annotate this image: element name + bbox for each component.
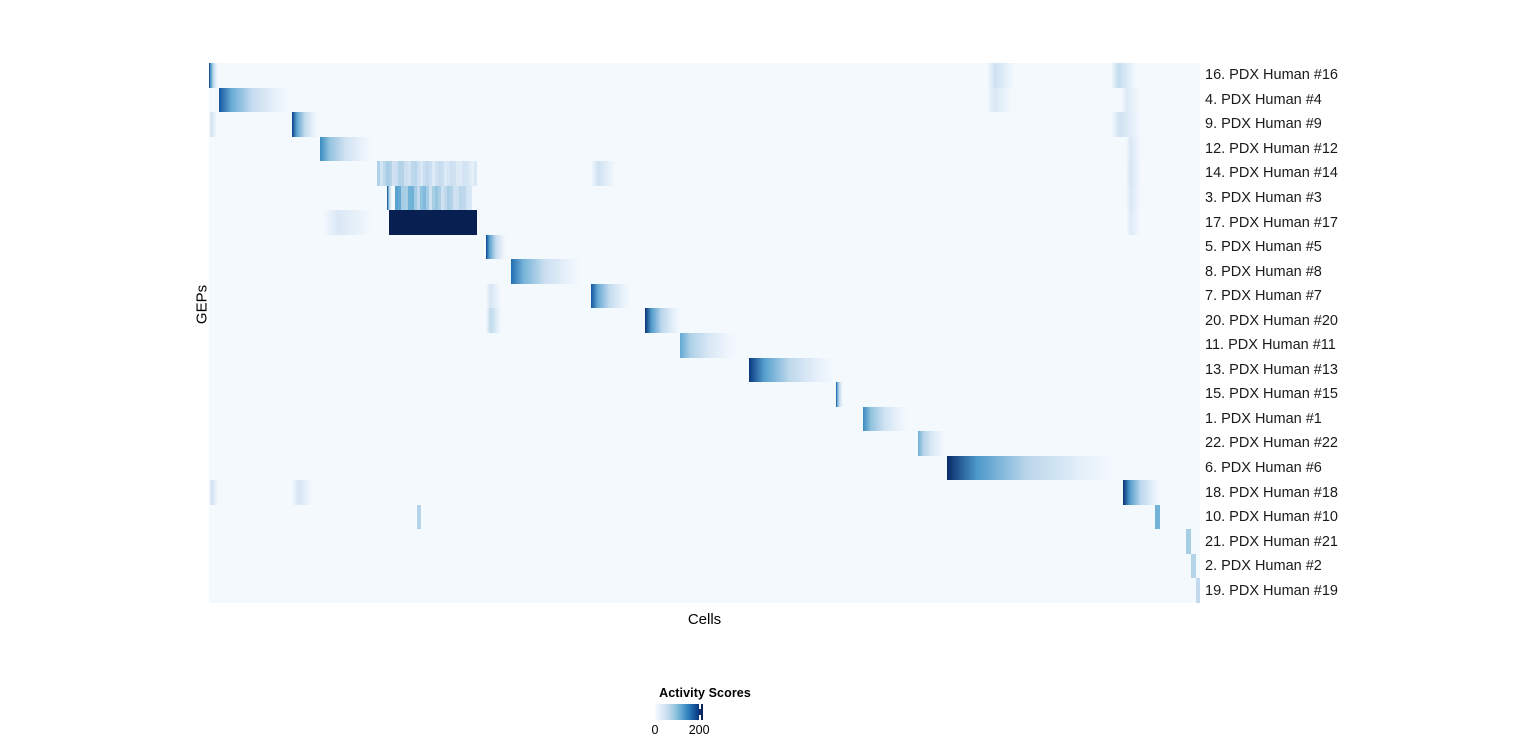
heatmap-cell xyxy=(209,63,218,88)
heatmap-row xyxy=(209,161,1200,186)
heatmap-row xyxy=(209,358,1200,383)
row-label-list: 16. PDX Human #164. PDX Human #49. PDX H… xyxy=(1205,63,1525,603)
row-label: 2. PDX Human #2 xyxy=(1205,559,1322,574)
heatmap-cell xyxy=(591,284,631,309)
heatmap-cell xyxy=(836,382,843,407)
heatmap-row xyxy=(209,137,1200,162)
row-label: 9. PDX Human #9 xyxy=(1205,117,1322,132)
x-axis-label: Cells xyxy=(209,611,1200,628)
heatmap-cell xyxy=(1126,137,1141,162)
heatmap-cell xyxy=(1126,161,1141,186)
row-label: 11. PDX Human #11 xyxy=(1205,338,1336,353)
colorbar-tick-label: 0 xyxy=(652,723,659,737)
heatmap-cell xyxy=(1123,480,1161,505)
heatmap-cell xyxy=(292,112,318,137)
heatmap-row xyxy=(209,529,1200,554)
heatmap-cell xyxy=(219,88,288,113)
heatmap-row xyxy=(209,456,1200,481)
row-label: 1. PDX Human #1 xyxy=(1205,412,1322,427)
row-label: 22. PDX Human #22 xyxy=(1205,436,1338,451)
heatmap-cell xyxy=(486,308,501,333)
heatmap-cell xyxy=(1126,210,1141,235)
colorbar-legend: Activity Scores 0200 xyxy=(600,686,810,742)
colorbar-gradient xyxy=(655,704,703,720)
heatmap-cell xyxy=(209,112,217,137)
heatmap-cell xyxy=(323,210,373,235)
heatmap-cell xyxy=(292,480,313,505)
heatmap-cell xyxy=(1186,529,1191,554)
heatmap-cell xyxy=(486,284,501,309)
heatmap-cell xyxy=(486,235,506,260)
heatmap-cell xyxy=(947,456,1112,481)
heatmap-row xyxy=(209,112,1200,137)
heatmap-cell xyxy=(1196,578,1200,603)
row-label: 18. PDX Human #18 xyxy=(1205,486,1338,501)
heatmap-cell xyxy=(320,137,373,162)
heatmap-cell xyxy=(1111,63,1136,88)
heatmap-row xyxy=(209,308,1200,333)
row-label: 8. PDX Human #8 xyxy=(1205,265,1322,280)
heatmap-row xyxy=(209,210,1200,235)
row-label: 19. PDX Human #19 xyxy=(1205,584,1338,599)
row-label: 7. PDX Human #7 xyxy=(1205,289,1322,304)
heatmap-row xyxy=(209,505,1200,530)
row-label: 20. PDX Human #20 xyxy=(1205,314,1338,329)
heatmap-cell xyxy=(987,88,1012,113)
colorbar-tick xyxy=(699,715,701,720)
heatmap-row xyxy=(209,480,1200,505)
heatmap-cell xyxy=(918,431,948,456)
heatmap-cell xyxy=(1121,88,1141,113)
row-label: 21. PDX Human #21 xyxy=(1205,535,1338,550)
heatmap-row xyxy=(209,235,1200,260)
heatmap-row xyxy=(209,284,1200,309)
heatmap-row xyxy=(209,578,1200,603)
heatmap-cell xyxy=(209,480,218,505)
heatmap-cell xyxy=(591,161,616,186)
heatmap-row xyxy=(209,382,1200,407)
row-label: 6. PDX Human #6 xyxy=(1205,461,1322,476)
heatmap-row xyxy=(209,554,1200,579)
colorbar-title: Activity Scores xyxy=(600,686,810,700)
heatmap-cell xyxy=(749,358,833,383)
heatmap-cell xyxy=(987,63,1014,88)
heatmap-cell xyxy=(1191,554,1196,579)
row-label: 17. PDX Human #17 xyxy=(1205,216,1338,231)
row-label: 5. PDX Human #5 xyxy=(1205,240,1322,255)
row-label: 15. PDX Human #15 xyxy=(1205,387,1338,402)
y-axis-label: GEPs xyxy=(194,275,211,335)
heatmap-cell xyxy=(680,333,739,358)
row-label: 16. PDX Human #16 xyxy=(1205,68,1338,83)
heatmap-row xyxy=(209,259,1200,284)
heatmap-cell xyxy=(645,308,680,333)
heatmap-row xyxy=(209,63,1200,88)
heatmap-row xyxy=(209,88,1200,113)
colorbar-tick xyxy=(699,704,701,709)
heatmap-cell xyxy=(474,161,478,186)
row-label: 12. PDX Human #12 xyxy=(1205,142,1338,157)
colorbar-tick-label: 200 xyxy=(689,723,710,737)
heatmap-row xyxy=(209,407,1200,432)
heatmap-row xyxy=(209,431,1200,456)
heatmap-row xyxy=(209,333,1200,358)
row-label: 3. PDX Human #3 xyxy=(1205,191,1322,206)
heatmap-cell xyxy=(387,186,392,211)
heatmap-figure: GEPs Cells 16. PDX Human #164. PDX Human… xyxy=(0,0,1540,743)
heatmap-cell xyxy=(1126,186,1141,211)
heatmap-cell xyxy=(389,210,476,235)
heatmap-plot-area xyxy=(209,63,1200,603)
heatmap-cell xyxy=(863,407,908,432)
heatmap-cell xyxy=(469,186,473,211)
heatmap-cell xyxy=(1155,505,1160,530)
heatmap-cell xyxy=(511,259,580,284)
row-label: 10. PDX Human #10 xyxy=(1205,510,1338,525)
heatmap-row xyxy=(209,186,1200,211)
row-label: 14. PDX Human #14 xyxy=(1205,166,1338,181)
row-label: 4. PDX Human #4 xyxy=(1205,93,1322,108)
heatmap-cell xyxy=(1111,112,1141,137)
heatmap-cell xyxy=(417,505,421,530)
row-label: 13. PDX Human #13 xyxy=(1205,363,1338,378)
